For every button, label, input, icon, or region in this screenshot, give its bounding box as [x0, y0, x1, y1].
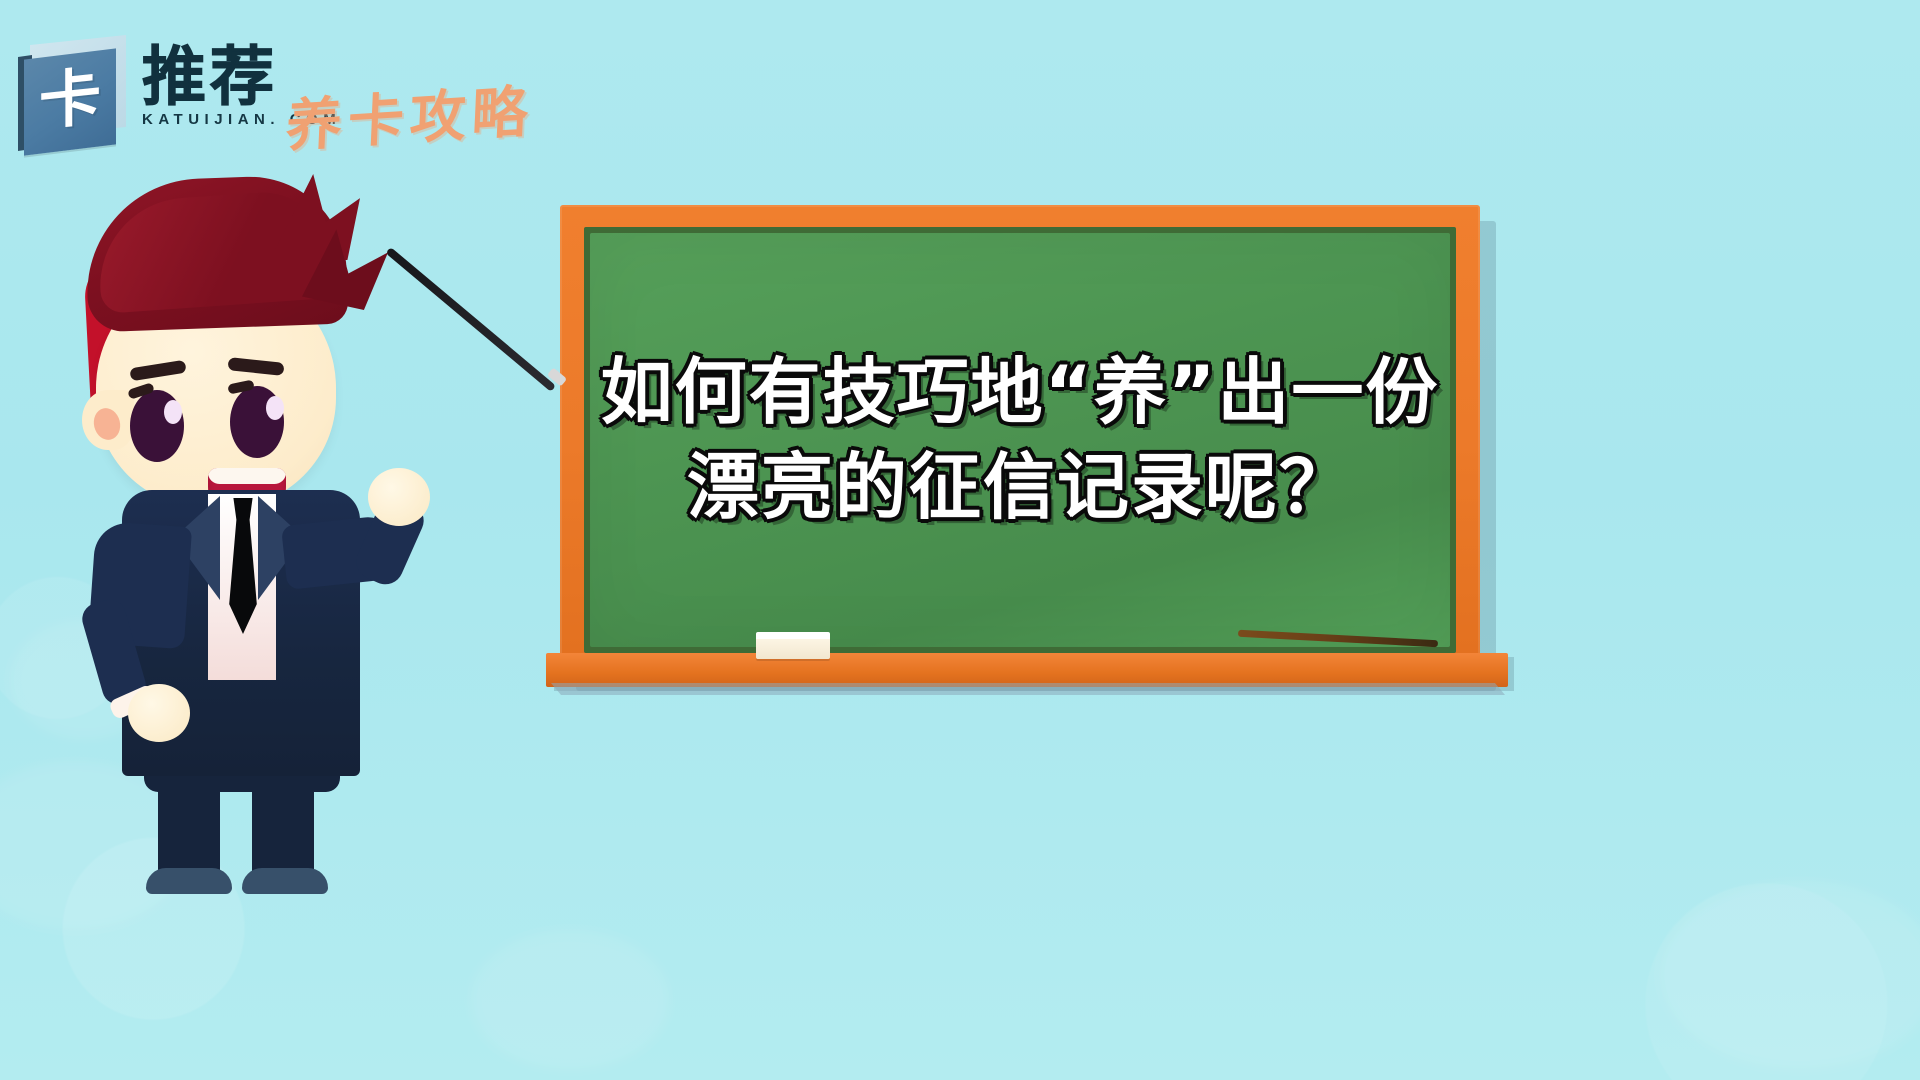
hand-right	[368, 468, 430, 526]
blackboard-ledge-underside	[551, 683, 1505, 695]
background-blob	[470, 930, 670, 1070]
blackboard-ledge	[546, 653, 1508, 687]
board-eraser-icon	[756, 637, 830, 659]
teaching-pointer-icon	[385, 247, 556, 392]
logo-mark-character: 卡	[20, 42, 120, 157]
background-blob	[1660, 880, 1920, 1070]
eye-highlight-left	[164, 400, 182, 424]
ka-card-logo-icon: 卡	[16, 46, 120, 150]
blackboard-text-line-2: 漂亮的征信记录呢？	[687, 445, 1353, 530]
eye-highlight-right	[266, 396, 284, 420]
shoe-right	[242, 868, 328, 894]
scene-stage: 卡 推荐 KATUIJIAN. COM 养卡攻略 如何有技巧地“养”出一份 漂亮…	[0, 0, 1920, 1080]
board-eraser-top	[756, 632, 830, 639]
blackboard: 如何有技巧地“养”出一份 漂亮的征信记录呢？	[560, 205, 1480, 675]
upper-teeth	[208, 468, 286, 484]
blackboard-text-line-1: 如何有技巧地“养”出一份	[601, 350, 1440, 435]
cartoon-teacher	[70, 168, 550, 798]
blackboard-surface: 如何有技巧地“养”出一份 漂亮的征信记录呢？	[590, 233, 1450, 647]
blackboard-frame: 如何有技巧地“养”出一份 漂亮的征信记录呢？	[560, 205, 1480, 675]
shoe-left	[146, 868, 232, 894]
series-tagline: 养卡攻略	[284, 66, 535, 163]
hand-left	[128, 684, 190, 742]
